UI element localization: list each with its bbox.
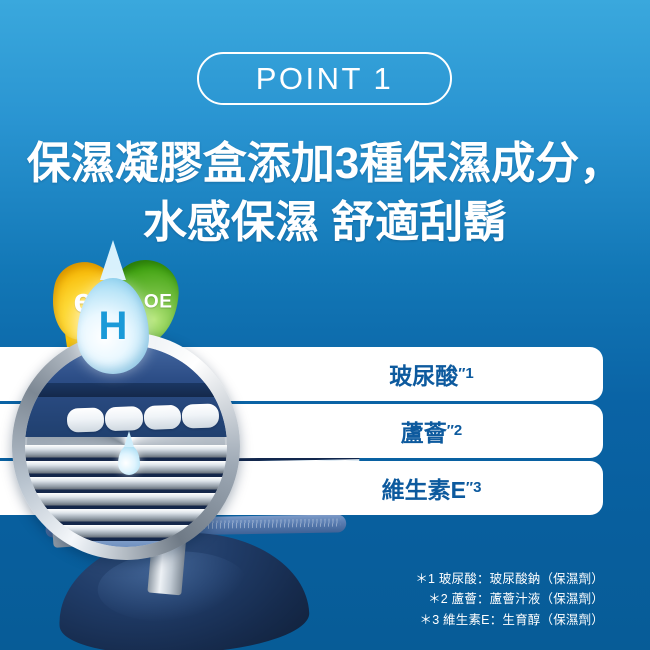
hyaluronic-acid-droplet-label: H xyxy=(77,306,149,346)
ingredient-label-3: 維生素E″3 xyxy=(382,471,482,505)
point-badge: POINT 1 xyxy=(197,52,452,105)
ingredient-label-1: 玻尿酸″1 xyxy=(389,357,474,391)
page-title: 保濕凝膠盒添加3種保濕成分， 水感保濕 舒適刮鬍 xyxy=(0,135,650,252)
promo-banner: POINT 1 保濕凝膠盒添加3種保濕成分， 水感保濕 舒適刮鬍 xyxy=(0,0,650,650)
footnote-1: ＊1 玻尿酸：玻尿酸鈉（保濕劑） xyxy=(304,569,604,589)
footnote-3: ＊3 維生素E：生育醇（保濕劑） xyxy=(304,610,604,630)
magnified-lubricating-strip xyxy=(25,541,227,547)
headline-line-1: 保濕凝膠盒添加3種保濕成分， xyxy=(27,139,623,188)
ingredient-label-2: 蘆薈″2 xyxy=(401,414,463,448)
magnified-moisture-gel-bar xyxy=(67,402,220,433)
water-drop-icon xyxy=(118,445,140,475)
footnote-2: ＊2 蘆薈：蘆薈汁液（保濕劑） xyxy=(304,589,604,609)
footnotes: ＊1 玻尿酸：玻尿酸鈉（保濕劑） ＊2 蘆薈：蘆薈汁液（保濕劑） ＊3 維生素E… xyxy=(304,569,604,630)
hyaluronic-acid-droplet-icon: H xyxy=(77,278,149,374)
point-badge-label: POINT 1 xyxy=(256,63,394,94)
